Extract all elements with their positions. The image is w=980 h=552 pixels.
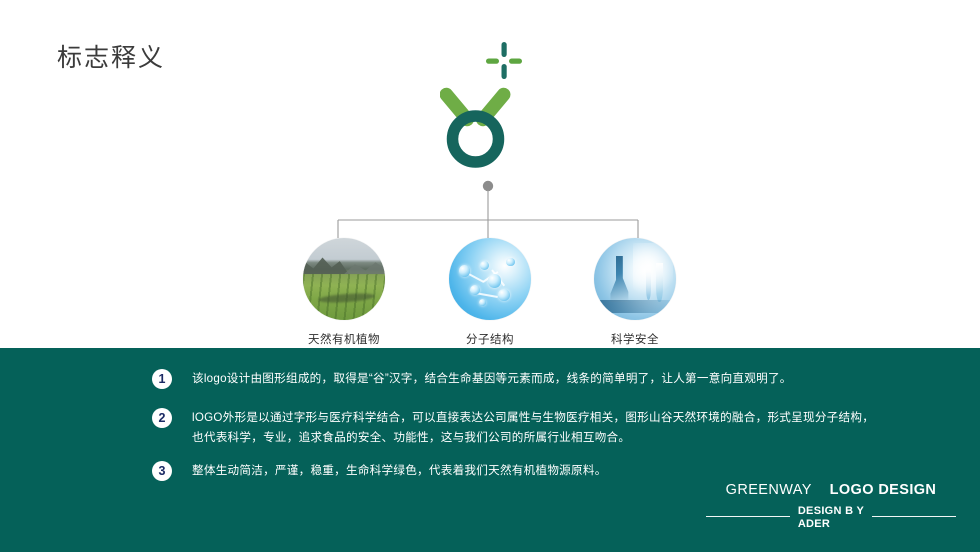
bullet-number-badge: 2: [152, 408, 172, 428]
bullet-number-badge: 1: [152, 369, 172, 389]
footer-brand-line: GREENWAY LOGO DESIGN: [706, 482, 956, 498]
page-title: 标志释义: [57, 46, 165, 71]
footer-rule-left: [706, 516, 790, 517]
logo-teal-ring: [453, 116, 499, 162]
diagram-node-natural-organic-plants[interactable]: 天然有机植物: [303, 238, 385, 347]
diagram-node-molecular-structure[interactable]: 分子结构: [449, 238, 531, 347]
slide-canvas: 标志释义: [0, 0, 980, 552]
footer-subtitle: DESIGN B Y ADER: [790, 505, 872, 531]
bullet-item: 2 lOGO外形是以通过字形与医疗科学结合，可以直接表达公司属性与生物医疗相关，…: [152, 408, 874, 448]
node-label: 天然有机植物: [303, 331, 385, 347]
node-label: 科学安全: [594, 331, 676, 347]
node-image-tea-field: [303, 238, 385, 320]
bullet-text: 该logo设计由图形组成的，取得是“谷”汉字，结合生命基因等元素而成，线条的简单…: [192, 369, 792, 389]
description-panel: 1 该logo设计由图形组成的，取得是“谷”汉字，结合生命基因等元素而成，线条的…: [0, 348, 980, 552]
bullet-text: 整体生动简洁，严谨，稳重，生命科学绿色，代表着我们天然有机植物源原料。: [192, 461, 607, 481]
footer-brand-mark: GREENWAY LOGO DESIGN DESIGN B Y ADER: [706, 482, 956, 531]
bullet-text: lOGO外形是以通过字形与医疗科学结合，可以直接表达公司属性与生物医疗相关，图形…: [192, 408, 874, 448]
bullet-item: 1 该logo设计由图形组成的，取得是“谷”汉字，结合生命基因等元素而成，线条的…: [152, 369, 792, 389]
footer-subtitle-row: DESIGN B Y ADER: [706, 501, 956, 531]
connector-diagram: [300, 178, 680, 240]
logo-green-strokes: [440, 85, 513, 129]
connector-lines: [338, 190, 638, 238]
bullet-number-badge: 3: [152, 461, 172, 481]
node-label: 分子结构: [449, 331, 531, 347]
sparkle-cross-icon: [486, 42, 522, 79]
footer-brand: GREENWAY: [726, 482, 812, 498]
footer-rule-right: [872, 516, 956, 517]
node-image-laboratory: [594, 238, 676, 320]
hub-dot: [483, 181, 493, 191]
logo-mark: [440, 38, 560, 168]
node-image-molecule: [449, 238, 531, 320]
bullet-item: 3 整体生动简洁，严谨，稳重，生命科学绿色，代表着我们天然有机植物源原料。: [152, 461, 607, 481]
footer-brand-suffix: LOGO DESIGN: [830, 482, 937, 498]
diagram-node-scientific-safety[interactable]: 科学安全: [594, 238, 676, 347]
